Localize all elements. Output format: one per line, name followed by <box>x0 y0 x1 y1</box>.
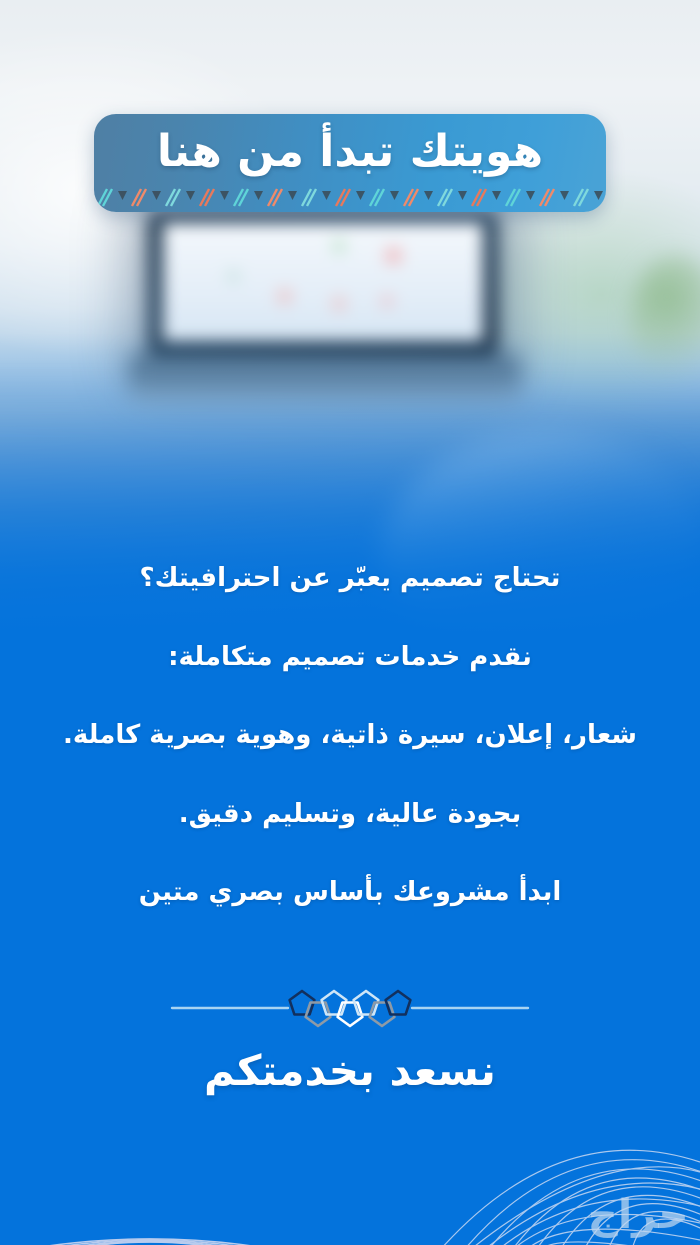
copy-line-3: شعار، إعلان، سيرة ذاتية، وهوية بصرية كام… <box>0 719 700 752</box>
body-copy: تحتاج تصميم يعبّر عن احترافيتك؟ نقدم خدم… <box>0 562 700 909</box>
copy-line-4: بجودة عالية، وتسليم دقيق. <box>0 798 700 831</box>
copy-line-1: تحتاج تصميم يعبّر عن احترافيتك؟ <box>0 562 700 595</box>
background-photo <box>0 0 700 640</box>
copy-line-2: نقدم خدمات تصميم متكاملة: <box>0 641 700 674</box>
header-badge: هويتك تبدأ من هنا <box>94 114 606 212</box>
footer-tagline: نسعد بخدمتكم <box>0 1046 700 1095</box>
copy-line-5: ابدأ مشروعك بأساس بصري متين <box>0 876 700 909</box>
pentagon-chain-divider-icon <box>170 985 530 1031</box>
badge-title: هويتك تبدأ من هنا <box>94 123 606 181</box>
decorative-stripe-pattern-icon <box>94 186 606 208</box>
watermark-logo: حراج <box>587 1195 688 1235</box>
photo-blue-fade-overlay <box>0 0 700 640</box>
poster-canvas: هويتك تبدأ من هنا تحتاج تصميم يعبّر عن ا… <box>0 0 700 1245</box>
